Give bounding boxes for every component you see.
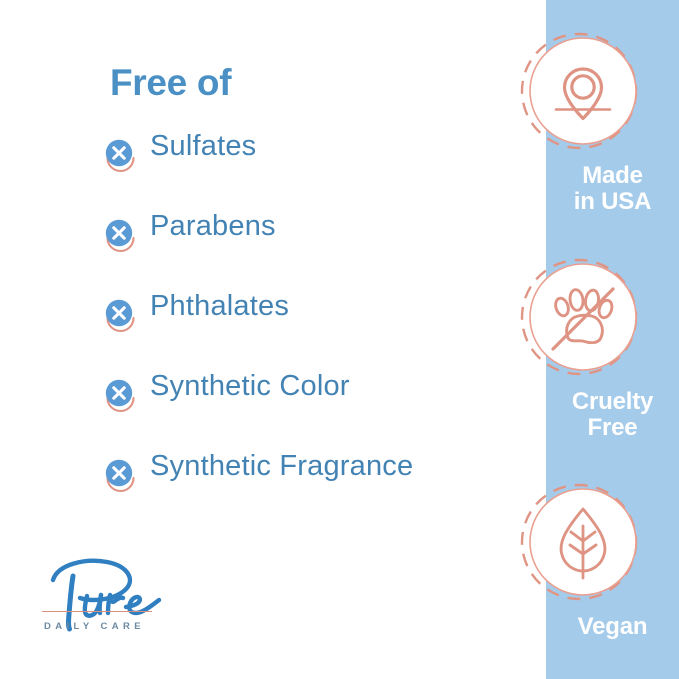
- x-circle-icon: [100, 294, 140, 334]
- badge-circle: [518, 256, 640, 378]
- list-item-label: Phthalates: [150, 290, 289, 323]
- list-item: Sulfates: [100, 132, 540, 212]
- list-item: Synthetic Color: [100, 372, 540, 452]
- list-item-label: Synthetic Color: [150, 370, 350, 403]
- badge-circle: [518, 481, 640, 603]
- badge-label-line2: Free: [588, 414, 638, 441]
- x-circle-icon: [100, 134, 140, 174]
- badge-label-line1: Cruelty: [572, 388, 653, 415]
- list-item: Phthalates: [100, 292, 540, 372]
- page-title: Free of: [110, 64, 231, 101]
- logo-divider: [42, 611, 152, 612]
- badge-label: Cruelty Free: [546, 389, 679, 440]
- free-of-list: Sulfates Parabens: [100, 132, 540, 532]
- badge-circle: [518, 30, 640, 152]
- product-infographic: Free of Sulfates: [0, 0, 679, 679]
- badge-label: Vegan: [546, 614, 679, 640]
- logo-subtitle: DAILY CARE: [44, 621, 145, 632]
- free-of-panel: Free of Sulfates: [0, 0, 546, 679]
- list-item: Synthetic Fragrance: [100, 452, 540, 532]
- x-circle-icon: [100, 454, 140, 494]
- badge-label-line2: in USA: [574, 188, 651, 215]
- badge-label: Made in USA: [546, 163, 679, 214]
- badge-label-line1: Vegan: [578, 613, 648, 640]
- list-item-label: Parabens: [150, 210, 276, 243]
- badge-label-line1: Made: [582, 162, 643, 189]
- x-circle-icon: [100, 374, 140, 414]
- x-circle-icon: [100, 214, 140, 254]
- list-item: Parabens: [100, 212, 540, 292]
- list-item-label: Sulfates: [150, 130, 256, 163]
- list-item-label: Synthetic Fragrance: [150, 450, 413, 483]
